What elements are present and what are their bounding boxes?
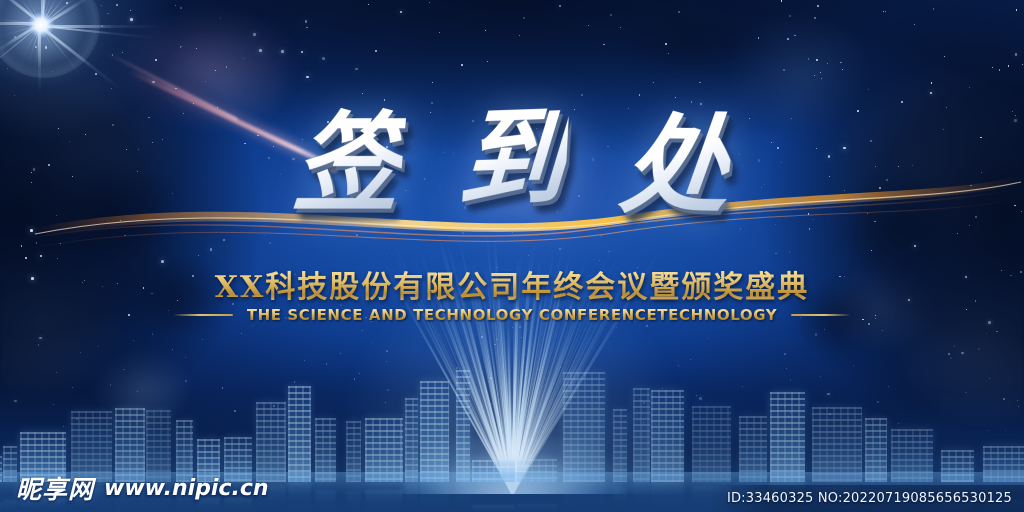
star [439,32,441,34]
star [277,233,278,234]
star [758,37,760,39]
star [375,50,377,52]
star [389,248,390,249]
star [241,333,242,334]
star [7,68,8,69]
star [39,337,42,340]
star [815,333,818,336]
subtitle-english: THE SCIENCE AND TECHNOLOGY CONFERENCETEC… [247,306,778,324]
star [487,61,489,63]
star [914,24,915,25]
star [252,325,253,326]
star [124,235,126,237]
star [133,340,134,341]
star [432,82,433,83]
image-id-text: ID:33460325 NO:20220719085656530125 [727,491,1012,506]
star [97,346,99,348]
star [665,43,667,45]
star [999,69,1001,71]
star [610,14,612,16]
star [481,336,483,338]
star [620,27,621,28]
star [1008,65,1010,67]
star [101,25,103,27]
watermark-logo: 昵享网 [16,470,94,506]
star [675,97,676,98]
star [783,69,785,71]
watermark: 昵享网 www.nipic.cn [16,470,269,506]
rule-left-icon [173,314,233,316]
star [95,73,97,75]
star [362,330,363,331]
star [950,357,952,359]
star [914,245,917,248]
star [933,8,935,10]
star [45,46,48,49]
star [653,82,654,83]
star [824,329,825,330]
star [172,349,173,350]
star [814,75,815,76]
star [969,225,970,226]
star [340,353,341,354]
star [355,68,358,71]
star [210,248,213,251]
star [14,95,15,96]
star [1015,53,1018,56]
star [107,13,109,15]
star [418,239,419,240]
star [930,92,933,95]
star [901,101,903,103]
star [871,250,873,252]
star [882,330,883,331]
star [707,338,708,339]
star [519,326,521,328]
star [616,327,617,328]
star [1016,9,1018,11]
star [559,5,562,8]
star [35,46,37,48]
title-char-3: 处 [616,105,737,228]
star [868,89,869,90]
star [816,59,818,61]
star [668,53,669,54]
title-char-1: 签 [288,104,407,225]
star [775,253,777,255]
star [789,251,791,253]
star [494,344,496,346]
star [60,243,62,245]
star [386,350,388,352]
star [38,344,40,346]
star [588,25,589,26]
rule-right-icon [791,314,851,316]
title-char-2: 到 [455,96,570,221]
star [646,325,649,328]
star [264,235,265,236]
star [47,26,48,27]
star [840,62,842,64]
star [809,228,811,230]
star [996,331,998,333]
star [52,71,54,73]
star [485,30,486,31]
star [784,353,786,355]
star [152,333,154,335]
star [356,234,358,236]
star [883,11,884,12]
star [992,67,993,68]
star [512,327,514,329]
star [429,2,430,3]
star [519,35,520,36]
star [496,339,497,340]
star [461,64,463,66]
star [787,38,789,40]
star [842,69,843,70]
star [66,2,68,4]
star [969,87,970,88]
star [954,345,956,347]
star [322,57,325,60]
star [111,88,112,89]
poster-title: 签 到 处 [0,104,1024,225]
star [116,4,118,6]
star [690,359,691,360]
star [269,242,271,244]
star [820,72,821,73]
star [948,353,950,355]
subtitle-chinese: XX科技股份有限公司年终会议暨颁奖盛典 [0,262,1024,306]
star [794,35,796,37]
star [978,348,980,350]
star [306,76,309,79]
star [817,5,819,7]
star [30,229,33,232]
star [368,4,369,5]
star [789,15,791,17]
star [639,94,641,96]
star [781,0,783,2]
star [25,257,27,259]
subtitle-english-row: THE SCIENCE AND TECHNOLOGY CONFERENCETEC… [0,306,1024,324]
star [1022,64,1023,65]
star [306,27,308,29]
star [80,352,81,353]
star [961,352,964,355]
star [585,329,587,331]
star [31,22,34,25]
star [372,342,373,343]
star [521,337,522,338]
star [36,242,38,244]
star [14,36,16,38]
star [198,255,199,256]
star [185,357,187,359]
star [362,93,363,94]
star [523,17,525,19]
star [581,94,583,96]
star [814,17,816,19]
star [678,11,680,13]
star [740,228,742,230]
image-id-bar: ID:33460325 NO:20220719085656530125 [709,485,1024,512]
star [885,11,886,12]
star [175,5,176,6]
star [305,20,308,23]
poster-canvas: 签 到 处 XX科技股份有限公司年终会议暨颁奖盛典 THE SCIENCE AN… [0,0,1024,512]
star [931,82,933,84]
star [603,44,605,46]
star [699,82,701,84]
star [223,239,225,241]
star [101,5,102,6]
star [400,11,403,14]
star [202,339,203,340]
star [57,258,58,259]
star [944,56,945,57]
star [21,245,23,247]
star [986,333,987,334]
watermark-url: www.nipic.cn [104,476,269,501]
star [957,233,958,234]
star [808,58,810,60]
star [301,51,304,54]
star [827,63,828,64]
star [821,78,822,79]
star [40,255,43,258]
star [314,326,315,327]
